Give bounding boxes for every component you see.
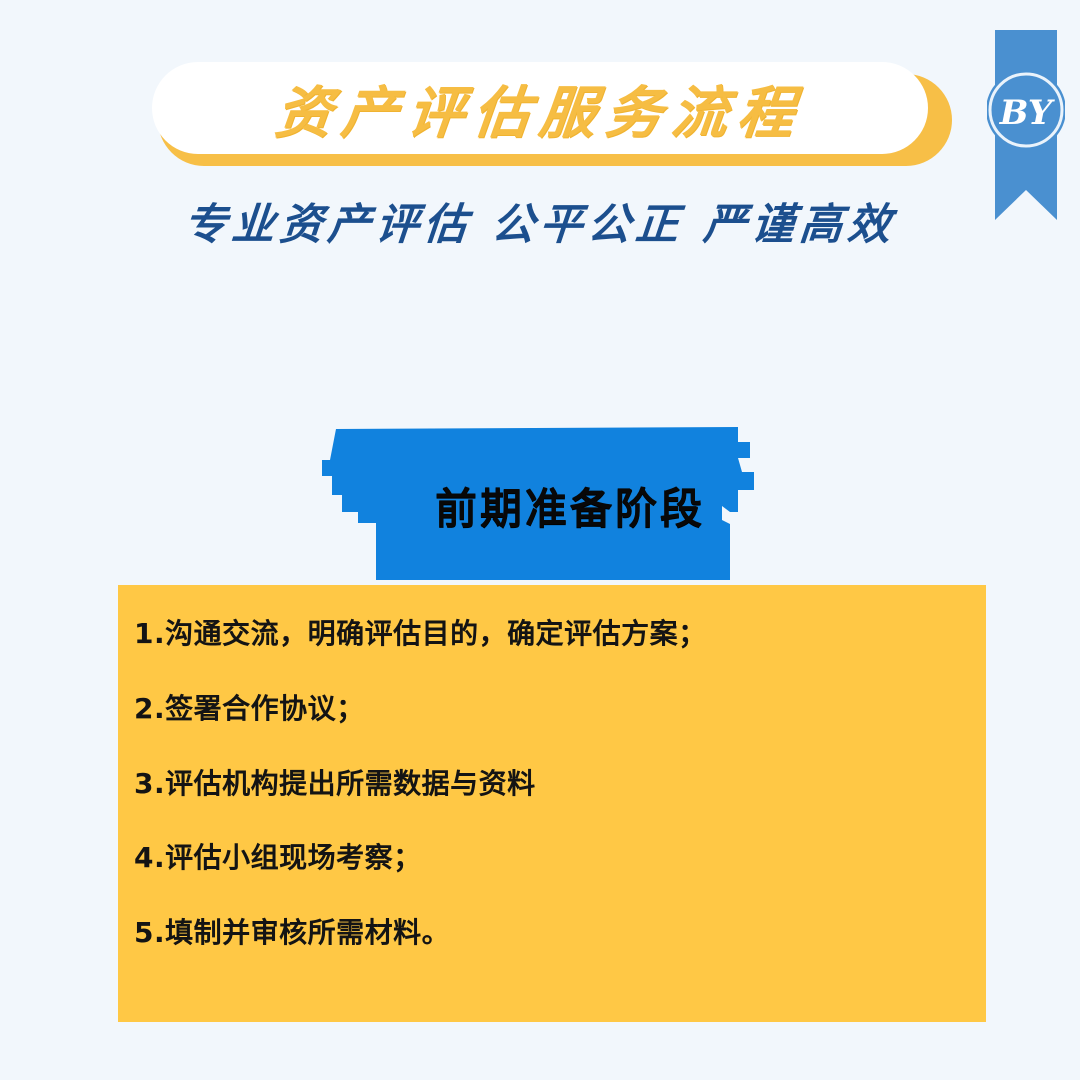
list-item: 1.沟通交流，明确评估目的，确定评估方案； — [134, 619, 986, 650]
badge-monogram: BY — [999, 93, 1055, 133]
poster-canvas: 资产评估服务流程 BY 专业资产评估 公平公正 严谨高效 前期准备阶段 1.沟通… — [0, 0, 1080, 1080]
stage-step-list: 1.沟通交流，明确评估目的，确定评估方案； 2.签署合作协议； 3.评估机构提出… — [134, 619, 986, 949]
page-title: 资产评估服务流程 — [272, 68, 809, 149]
list-item: 3.评估机构提出所需数据与资料 — [134, 769, 986, 800]
title-banner: 资产评估服务流程 — [152, 62, 952, 166]
list-item: 4.评估小组现场考察； — [134, 843, 986, 874]
page-subtitle: 专业资产评估 公平公正 严谨高效 — [0, 190, 1080, 252]
stage-title: 前期准备阶段 — [318, 420, 798, 590]
title-pill: 资产评估服务流程 — [152, 62, 928, 154]
stage-content-card: 1.沟通交流，明确评估目的，确定评估方案； 2.签署合作协议； 3.评估机构提出… — [118, 585, 986, 1022]
list-item: 2.签署合作协议； — [134, 694, 986, 725]
list-item: 5.填制并审核所需材料。 — [134, 918, 986, 949]
